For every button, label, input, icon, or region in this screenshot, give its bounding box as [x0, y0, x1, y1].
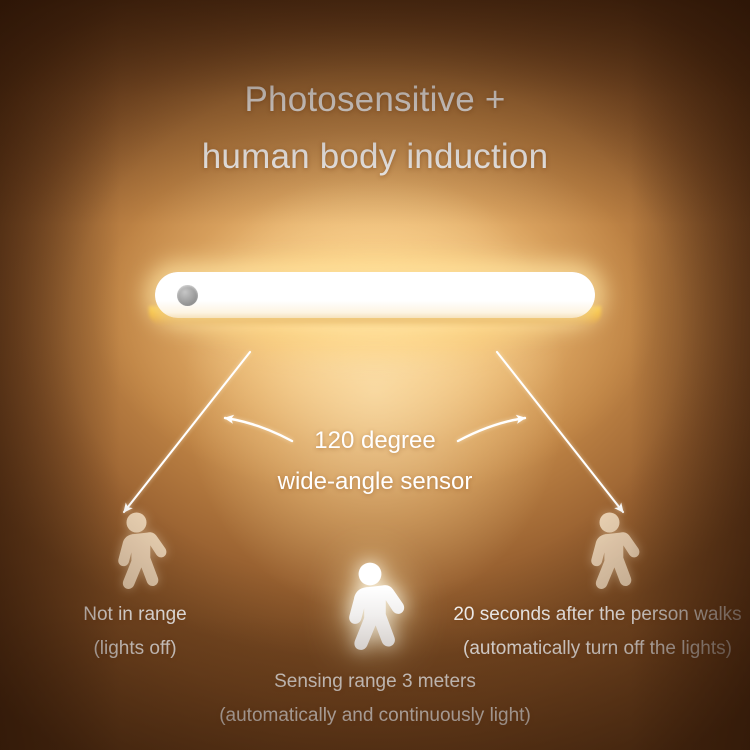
angle-line-2: wide-angle sensor: [0, 461, 750, 502]
product-feature-graphic: Photosensitive + human body induction: [0, 0, 750, 750]
walking-person-icon-center: [334, 562, 414, 658]
caption-left-line-1: Not in range: [0, 598, 270, 632]
walking-person-icon-left: [105, 512, 175, 596]
caption-right-line-1: 20 seconds after the person walks: [445, 598, 750, 632]
caption-center-line-1: Sensing range 3 meters: [0, 665, 750, 699]
caption-center: Sensing range 3 meters (automatically an…: [0, 665, 750, 733]
caption-center-line-2: (automatically and continuously light): [0, 699, 750, 733]
caption-right: 20 seconds after the person walks (autom…: [445, 598, 750, 666]
caption-left-line-2: (lights off): [0, 632, 270, 666]
walking-person-icon-right: [578, 512, 648, 596]
caption-left: Not in range (lights off): [0, 598, 270, 666]
sensor-angle-label: 120 degree wide-angle sensor: [0, 420, 750, 503]
caption-right-line-2: (automatically turn off the lights): [445, 632, 750, 666]
angle-line-1: 120 degree: [0, 420, 750, 461]
